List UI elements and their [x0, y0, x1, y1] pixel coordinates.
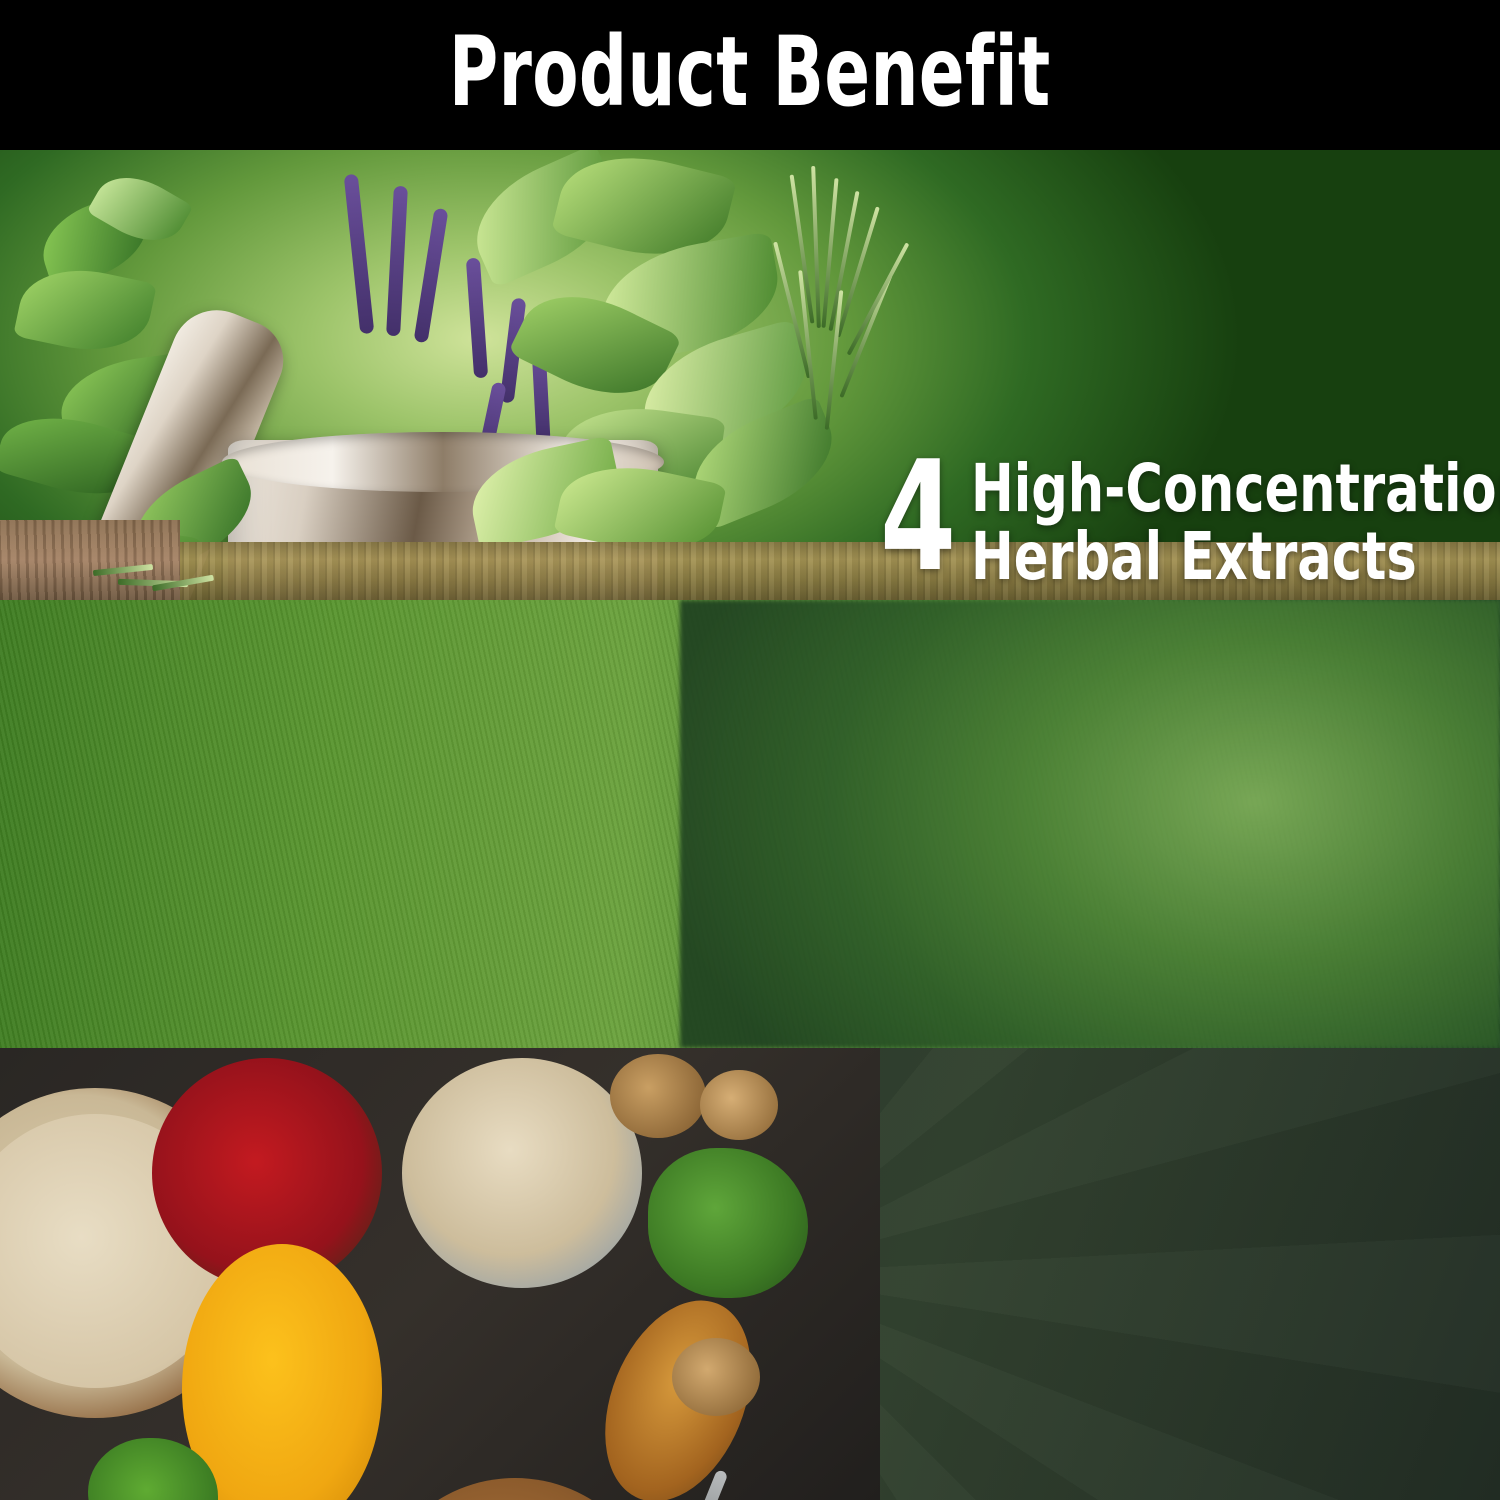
blurred-grass-background — [680, 600, 1500, 1048]
herbal-headline-line-2: Herbal Extracts — [971, 523, 1500, 591]
healthy-foods-flatlay-photo — [0, 1048, 880, 1500]
herbal-headline-line-1: High-Concentration — [971, 455, 1500, 523]
product-benefit-infographic: Product Benefit — [0, 0, 1500, 1500]
page-title: Product Benefit — [449, 24, 1051, 126]
herbal-extracts-text-block: 4 High-Concentration Herbal Extracts — [880, 455, 1500, 591]
panel-silymarin: 85% Standardised Silymarin (Milk Thistle… — [0, 600, 1500, 1048]
panel-anti-inflammatory: Provides Anti-Inflammatory Support — [0, 1048, 1500, 1500]
panel-herbal-extracts: 4 High-Concentration Herbal Extracts — [0, 150, 1500, 600]
header-band: Product Benefit — [0, 0, 1500, 150]
extract-count-number: 4 — [880, 455, 956, 580]
